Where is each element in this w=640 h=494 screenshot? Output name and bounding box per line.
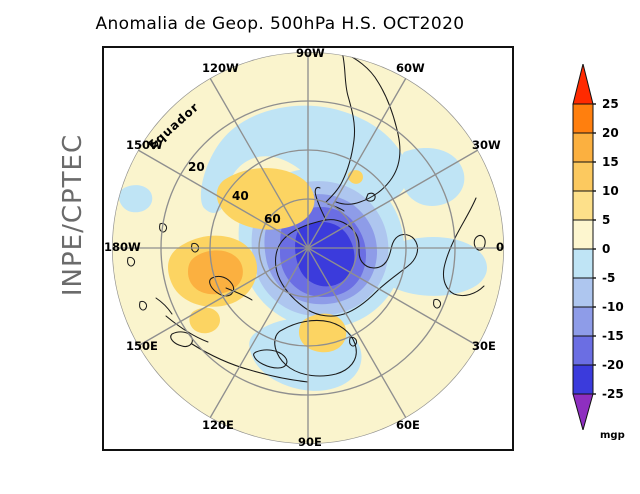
- lon-label-30w: 30W: [472, 140, 501, 152]
- lon-label-150e: 150E: [126, 341, 158, 353]
- colorbar-block-0-5: [573, 220, 593, 249]
- anomaly-map-page: Anomalia de Geop. 500hPa H.S. OCT2020 IN…: [0, 0, 640, 494]
- colorbar-cap-min: [573, 394, 593, 430]
- lon-label-120e: 120E: [202, 420, 234, 432]
- colorbar-tick-20: 20: [602, 127, 619, 139]
- institution-watermark: INPE/CPTEC: [58, 100, 88, 330]
- colorbar-block-neg20-neg15: [573, 336, 593, 365]
- colorbar-tick-neg20: -20: [602, 359, 624, 371]
- colorbar: 25 20 15 10 5 0 -5 -10 -15 -20 -25: [572, 64, 596, 430]
- colorbar-block-15-20: [573, 133, 593, 162]
- colorbar-block-neg15-neg10: [573, 307, 593, 336]
- lon-label-60w: 60W: [396, 63, 425, 75]
- colorbar-unit-label: mgp: [600, 430, 625, 441]
- lon-label-120w: 120W: [202, 63, 239, 75]
- polar-stereographic-map: [104, 48, 512, 449]
- colorbar-tick-10: 10: [602, 185, 619, 197]
- colorbar-tick-neg25: -25: [602, 388, 624, 400]
- colorbar-block-neg25-neg20: [573, 365, 593, 394]
- colorbar-block-10-15: [573, 162, 593, 191]
- lon-label-60e: 60E: [396, 420, 420, 432]
- colorbar-block-5-10: [573, 191, 593, 220]
- colorbar-gradient: [572, 64, 596, 430]
- colorbar-tick-0: 0: [602, 243, 610, 255]
- colorbar-tick-5: 5: [602, 214, 610, 226]
- lon-label-180w: 180W: [104, 242, 141, 254]
- page-title: Anomalia de Geop. 500hPa H.S. OCT2020: [0, 14, 560, 34]
- colorbar-tick-15: 15: [602, 156, 619, 168]
- colorbar-block-neg10-neg5: [573, 278, 593, 307]
- contour-band-pos10-b: [188, 250, 243, 294]
- colorbar-tick-25: 25: [602, 98, 619, 110]
- lat-label-40: 40: [232, 190, 249, 202]
- lat-label-20: 20: [188, 161, 205, 173]
- colorbar-tick-neg15: -15: [602, 330, 624, 342]
- contour-band-pos5-d: [189, 308, 220, 334]
- colorbar-tick-neg10: -10: [602, 301, 624, 313]
- colorbar-block-neg5-0: [573, 249, 593, 278]
- colorbar-block-20-25: [573, 104, 593, 133]
- lon-label-90e: 90E: [298, 437, 322, 449]
- map-plot-frame: 90W 120W 150W 180W 150E 120E 90E 60E 30E…: [102, 46, 514, 451]
- colorbar-cap-max: [573, 64, 593, 104]
- lat-label-60: 60: [264, 213, 281, 225]
- lon-label-90w: 90W: [296, 48, 325, 60]
- colorbar-tick-neg5: -5: [602, 272, 615, 284]
- lon-label-0: 0: [496, 242, 504, 254]
- lon-label-30e: 30E: [472, 341, 496, 353]
